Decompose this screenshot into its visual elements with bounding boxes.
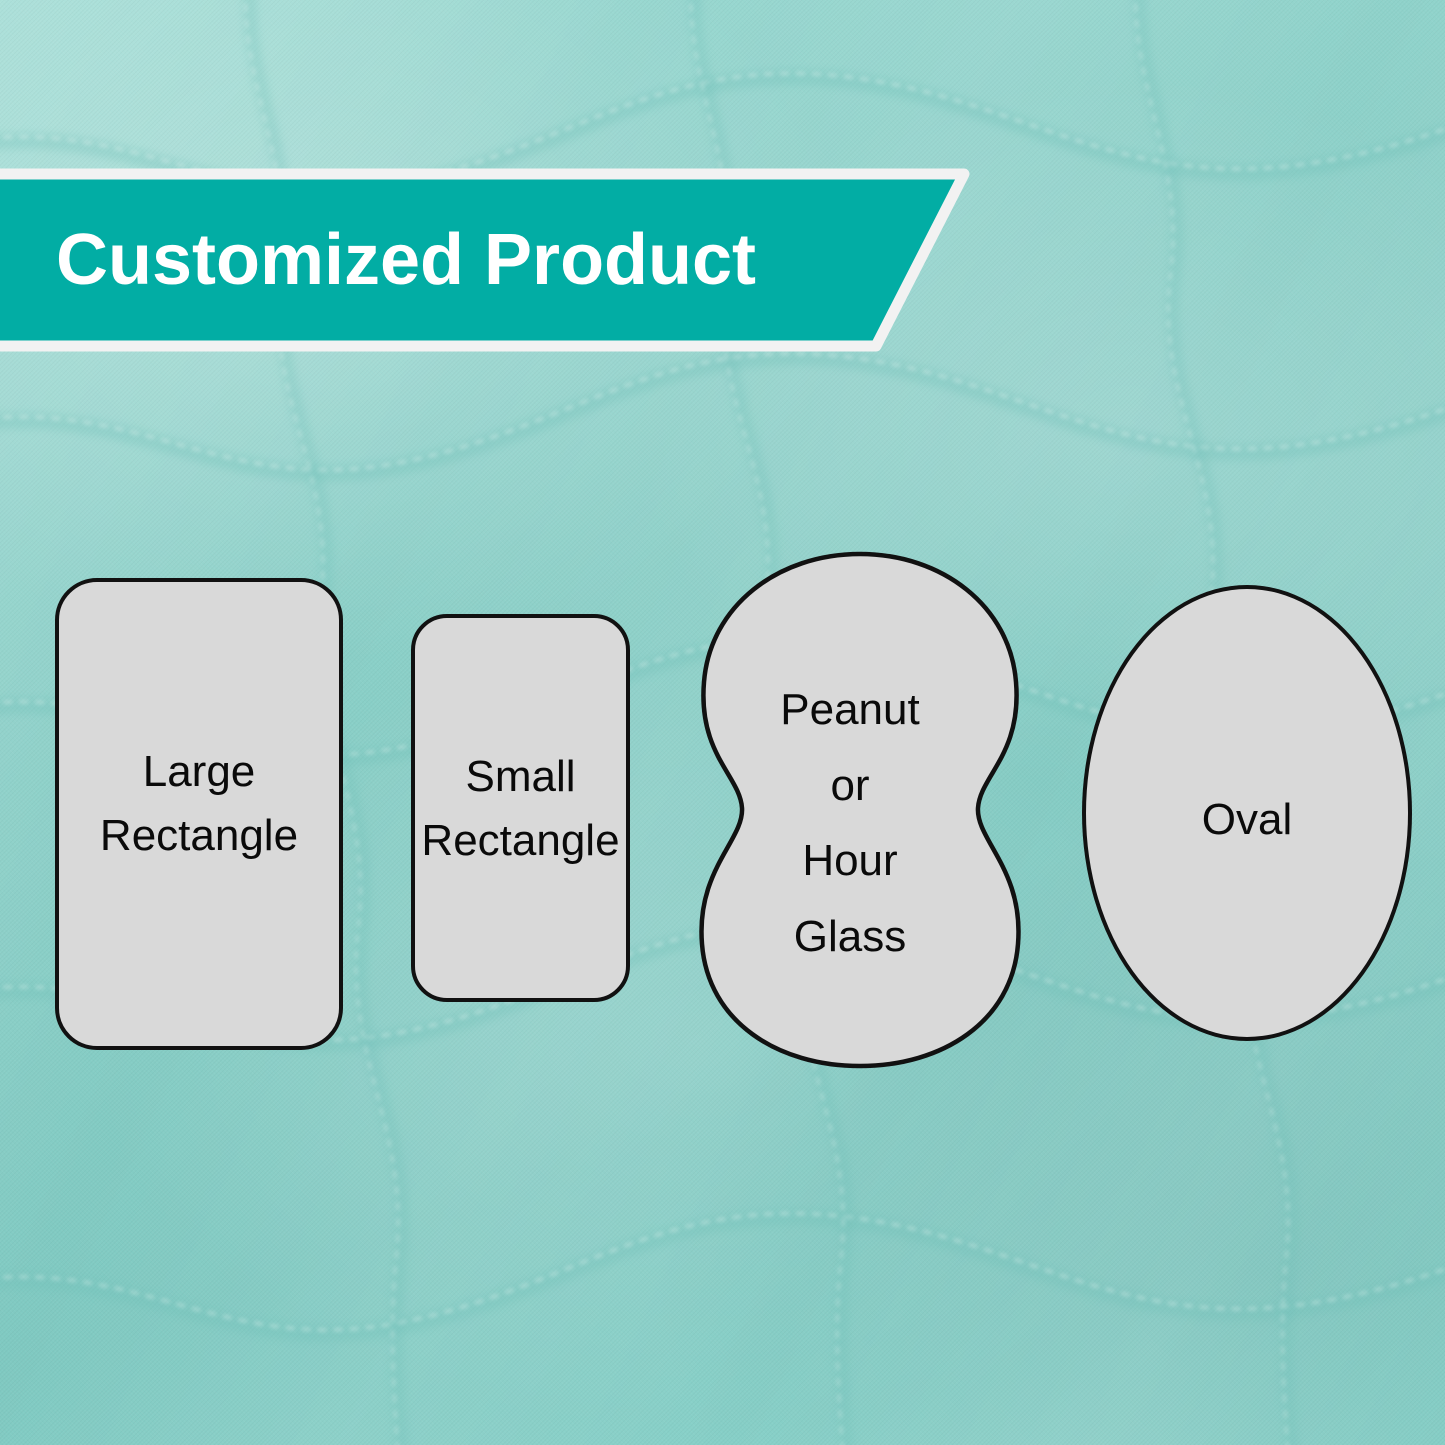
- shape-peanut-hourglass[interactable]: [680, 540, 1040, 1080]
- shape-oval[interactable]: [1082, 585, 1412, 1041]
- shape-large-rectangle[interactable]: [55, 578, 343, 1050]
- shape-options-group: Large Rectangle Small Rectangle Peanut o…: [0, 0, 1445, 1445]
- shape-small-rectangle[interactable]: [411, 614, 630, 1002]
- poster-canvas: Customized Product Large Rectangle Small…: [0, 0, 1445, 1445]
